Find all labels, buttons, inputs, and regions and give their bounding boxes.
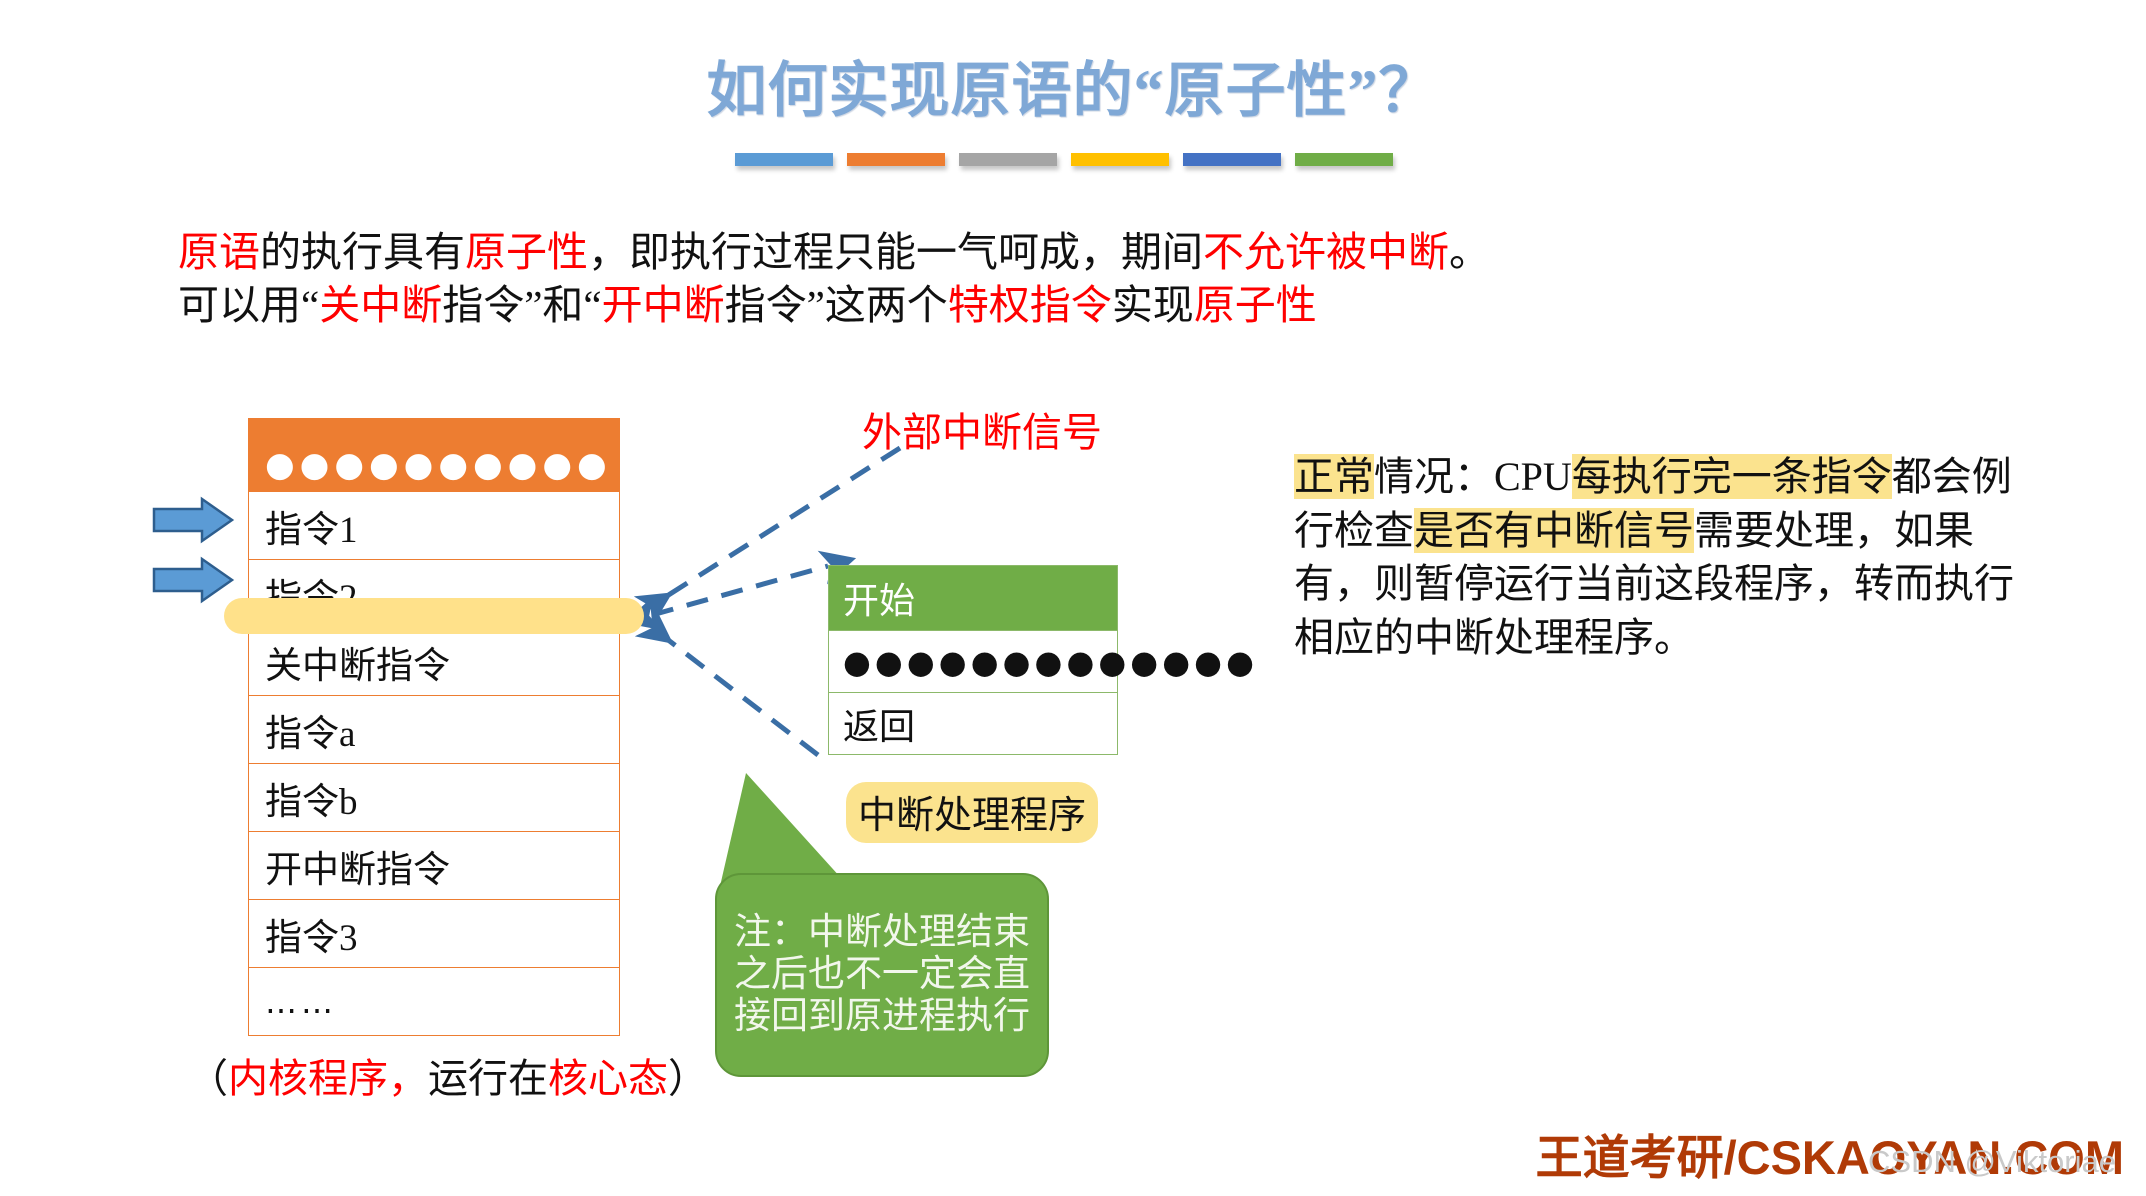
execution-pointer-1-icon xyxy=(152,497,234,543)
text-run: （ xyxy=(188,1056,228,1101)
bar-orange xyxy=(847,153,945,166)
text-run: 指令”和“ xyxy=(442,282,601,328)
header-ellipsis-dots: ●●●●●●●●●● xyxy=(265,448,612,482)
text-run: 开中断 xyxy=(602,282,725,328)
text-run: 关中断 xyxy=(319,282,442,328)
intro-line-2: 可以用“关中断指令”和“开中断指令”这两个特权指令实现原子性 xyxy=(178,279,1468,332)
text-run: 情况：CPU xyxy=(1374,454,1572,499)
bar-gray xyxy=(959,153,1057,166)
table-row: 指令b xyxy=(249,763,619,831)
instruction-table: ●●●●●●●●●● 指令1 指令2 关中断指令 指令a 指令b 开中断指令 指… xyxy=(248,418,620,1036)
text-run: ） xyxy=(668,1056,708,1101)
watermark: CSDN @Viktoriae xyxy=(1868,1144,2116,1180)
table-row: 开中断指令 xyxy=(249,831,619,899)
callout-note: 注：中断处理结束之后也不一定会直接回到原进程执行 xyxy=(715,873,1049,1077)
external-signal-label: 外部中断信号 xyxy=(862,400,1102,458)
instruction-label: 关中断指令 xyxy=(265,635,450,689)
highlighted-text-run: 是否有中断信号 xyxy=(1414,508,1694,553)
table-row: …… xyxy=(249,967,619,1035)
slide-canvas: 如何实现原语的“原子性”？ 原语的执行具有原子性，即执行过程只能一气呵成，期间不… xyxy=(0,0,2146,1196)
instruction-label: 开中断指令 xyxy=(265,839,450,893)
text-run: 原子性 xyxy=(465,229,588,275)
text-run: 内核程序， xyxy=(228,1056,428,1101)
table-row: 指令1 xyxy=(249,491,619,559)
text-run: 特权指令 xyxy=(948,282,1112,328)
arrow-return-note xyxy=(650,626,818,755)
kernel-mode-caption: （内核程序，运行在核心态） xyxy=(188,1046,708,1104)
text-run: 可以用 xyxy=(178,282,301,328)
instruction-label: …… xyxy=(265,986,337,1018)
table-row: 关中断指令 xyxy=(249,627,619,695)
table-row: ●●●●●●●●●●●●● xyxy=(829,630,1117,692)
handler-table: 开始 ●●●●●●●●●●●●● 返回 xyxy=(828,565,1118,755)
explanation-paragraph: 正常情况：CPU每执行完一条指令都会例行检查是否有中断信号需要处理，如果有，则暂… xyxy=(1294,450,2034,664)
accent-bar-group xyxy=(735,153,1395,173)
text-run: 指令”这两个 xyxy=(725,282,948,328)
handler-body-dots: ●●●●●●●●●●●●● xyxy=(843,646,1258,678)
table-row: 指令a xyxy=(249,695,619,763)
instruction-label: 指令3 xyxy=(265,907,358,961)
bar-navy xyxy=(1183,153,1281,166)
handler-start-label: 开始 xyxy=(843,572,915,624)
execution-pointer-2-icon xyxy=(152,557,234,603)
text-run: 原语 xyxy=(178,229,260,275)
interrupt-point-highlight xyxy=(224,598,644,634)
bar-green xyxy=(1295,153,1393,166)
instruction-label: 指令1 xyxy=(265,499,358,553)
highlighted-text-run: 每执行完一条指令 xyxy=(1572,454,1892,499)
text-run: 不允许被中断 xyxy=(1203,229,1449,275)
text-run: 的执行具有 xyxy=(260,229,465,275)
callout-note-text: 注：中断处理结束之后也不一定会直接回到原进程执行 xyxy=(717,912,1047,1039)
bar-yellow xyxy=(1071,153,1169,166)
text-run: 运行在 xyxy=(428,1056,548,1101)
arrow-to-handler xyxy=(652,566,828,615)
handler-return-label: 返回 xyxy=(843,698,915,750)
table-row: 指令3 xyxy=(249,899,619,967)
text-run: “ xyxy=(301,282,319,328)
page-title: 如何实现原语的“原子性”？ xyxy=(0,42,2146,129)
highlighted-text-run: 正常 xyxy=(1294,454,1374,499)
text-run: 实现 xyxy=(1112,282,1194,328)
intro-line-1: 原语的执行具有原子性，即执行过程只能一气呵成，期间不允许被中断。 xyxy=(178,226,1468,279)
text-run: 原子性 xyxy=(1194,282,1317,328)
instruction-table-header: ●●●●●●●●●● xyxy=(249,419,619,491)
handler-table-header: 开始 xyxy=(829,566,1117,630)
text-run: ，即执行过程只能一气呵成，期间 xyxy=(588,229,1203,275)
instruction-label: 指令a xyxy=(265,703,355,757)
intro-paragraph: 原语的执行具有原子性，即执行过程只能一气呵成，期间不允许被中断。 可以用“关中断… xyxy=(178,226,1468,333)
bar-blue xyxy=(735,153,833,166)
instruction-label: 指令b xyxy=(265,771,358,825)
text-run: 。 xyxy=(1449,229,1490,275)
text-run: 核心态 xyxy=(548,1056,668,1101)
